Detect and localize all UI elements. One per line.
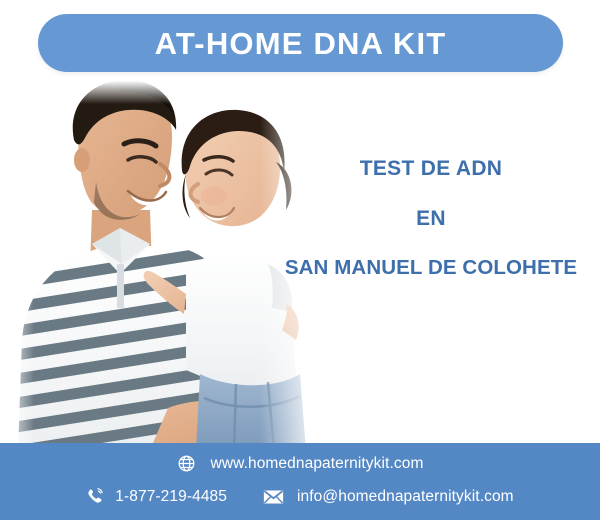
poster-canvas: AT-HOME DNA KIT bbox=[0, 0, 600, 520]
footer-website-text[interactable]: www.homednapaternitykit.com bbox=[211, 455, 424, 473]
headline-line-1: TEST DE ADN bbox=[262, 158, 600, 179]
footer-website-row: www.homednapaternitykit.com bbox=[0, 454, 600, 473]
headline-block: TEST DE ADN EN SAN MANUEL DE COLOHETE bbox=[262, 158, 600, 279]
phone-icon bbox=[86, 487, 105, 506]
footer-phone-text[interactable]: 1-877-219-4485 bbox=[115, 488, 227, 506]
headline-line-2: EN bbox=[262, 208, 600, 229]
globe-icon bbox=[177, 454, 196, 473]
envelope-icon bbox=[263, 489, 284, 505]
headline-line-3: SAN MANUEL DE COLOHETE bbox=[262, 258, 600, 279]
footer-contact-bar: www.homednapaternitykit.com 1-877-219-44… bbox=[0, 443, 600, 520]
footer-email-text[interactable]: info@homednapaternitykit.com bbox=[297, 488, 514, 506]
footer-contact-row: 1-877-219-4485 info@homednapaternitykit.… bbox=[0, 487, 600, 506]
header-badge-label: AT-HOME DNA KIT bbox=[155, 28, 447, 59]
footer-phone-item[interactable]: 1-877-219-4485 bbox=[86, 487, 227, 506]
header-badge: AT-HOME DNA KIT bbox=[38, 14, 563, 72]
footer-email-item[interactable]: info@homednapaternitykit.com bbox=[263, 488, 514, 506]
